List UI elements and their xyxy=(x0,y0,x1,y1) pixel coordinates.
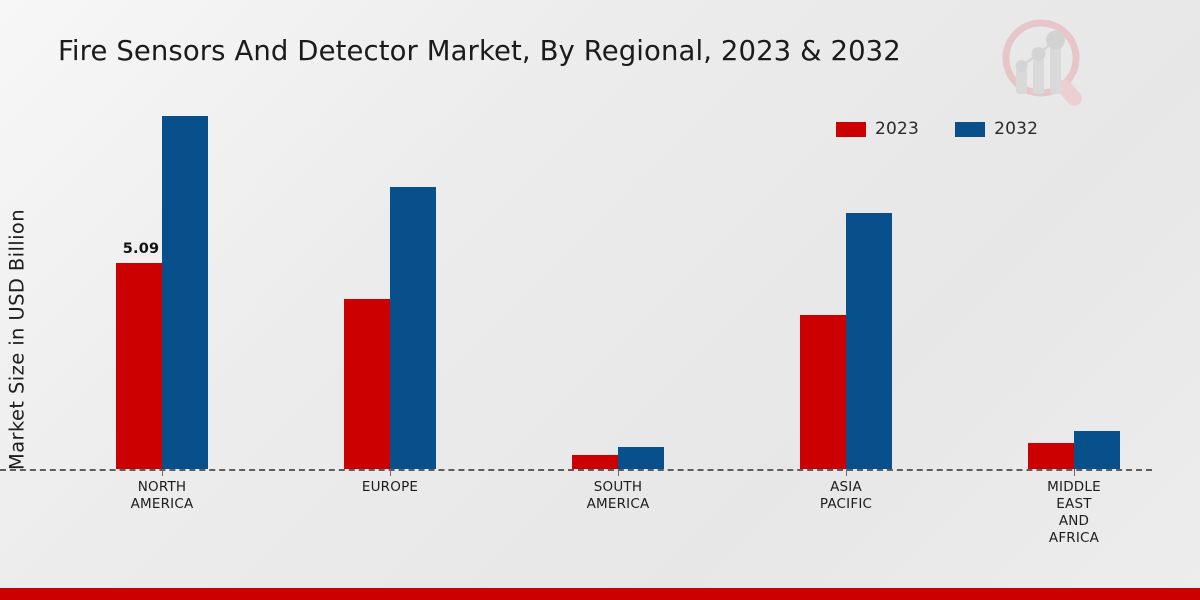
x-axis-category-label: SOUTH AMERICA xyxy=(587,479,650,513)
y-axis-title: Market Size in USD Billion xyxy=(6,175,29,505)
x-axis-category-label: EUROPE xyxy=(362,479,418,496)
bar-2023-3[interactable] xyxy=(572,455,618,469)
x-axis-category-label: ASIA PACIFIC xyxy=(820,479,872,513)
x-axis-tick xyxy=(846,469,847,476)
x-axis-tick xyxy=(390,469,391,476)
bar-group: MIDDLE EAST AND AFRICA xyxy=(960,0,1188,600)
bar-group: ASIA PACIFIC xyxy=(732,0,960,600)
bar-2023-1[interactable] xyxy=(116,263,162,469)
bar-2032-3[interactable] xyxy=(618,447,664,469)
x-axis-category-label: MIDDLE EAST AND AFRICA xyxy=(1047,479,1101,547)
bar-2023-2[interactable] xyxy=(344,299,390,469)
bar-group: EUROPE xyxy=(276,0,504,600)
bars xyxy=(276,0,504,469)
chart-canvas: Fire Sensors And Detector Market, By Reg… xyxy=(0,0,1200,600)
bar-2032-2[interactable] xyxy=(390,187,436,469)
bars xyxy=(960,0,1188,469)
bar-group: 5.09NORTH AMERICA xyxy=(48,0,276,600)
x-axis-tick xyxy=(1074,469,1075,476)
bars xyxy=(48,0,276,469)
bar-2032-1[interactable] xyxy=(162,116,208,469)
footer-accent-bar xyxy=(0,588,1200,600)
bar-groups: 5.09NORTH AMERICAEUROPESOUTH AMERICAASIA… xyxy=(48,0,1188,600)
bar-2032-4[interactable] xyxy=(846,213,892,469)
bars xyxy=(504,0,732,469)
x-axis-category-label: NORTH AMERICA xyxy=(131,479,194,513)
x-axis-tick xyxy=(618,469,619,476)
x-axis-tick xyxy=(162,469,163,476)
bar-group: SOUTH AMERICA xyxy=(504,0,732,600)
bar-value-label: 5.09 xyxy=(118,241,164,257)
bar-2032-5[interactable] xyxy=(1074,431,1120,469)
bar-2023-4[interactable] xyxy=(800,315,846,469)
bar-2023-5[interactable] xyxy=(1028,443,1074,469)
bars xyxy=(732,0,960,469)
